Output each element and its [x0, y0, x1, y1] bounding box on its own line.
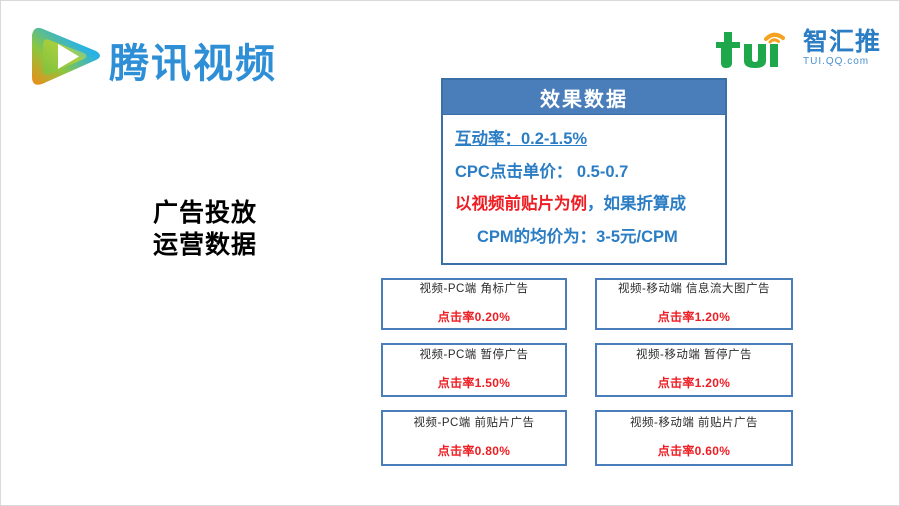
page-title: 腾讯视频 [109, 31, 277, 89]
effect-line-interaction-rate: 互动率：0.2-1.5% [455, 127, 715, 153]
effect-line-cpc-price: CPC点击单价： 0.5-0.7 [455, 160, 715, 186]
metric-value: 点击率1.20% [658, 374, 730, 391]
effect-line-cpm-price: CPM的均价为：3-5元/CPM [455, 225, 715, 251]
section-heading: 广告投放 运营数据 [153, 197, 257, 261]
metric-value: 点击率1.50% [438, 374, 510, 391]
tencent-video-play-icon [27, 21, 103, 91]
metric-box-pc-corner-ad[interactable]: 视频-PC端 角标广告 点击率0.20% [381, 278, 567, 330]
metric-label: 视频-PC端 前贴片广告 [414, 417, 535, 431]
metric-value: 点击率0.20% [438, 308, 510, 325]
metric-label: 视频-PC端 暂停广告 [420, 349, 529, 363]
tui-url: TUI.QQ.com [803, 56, 869, 67]
effect-data-panel-body: 互动率：0.2-1.5% CPC点击单价： 0.5-0.7 以视频前贴片为例，如… [443, 115, 725, 256]
metric-value: 点击率1.20% [658, 308, 730, 325]
metric-label: 视频-移动端 暂停广告 [636, 349, 752, 363]
section-heading-line1: 广告投放 [153, 197, 257, 229]
effect-line-1-text: 互动率：0.2-1.5% [455, 130, 587, 148]
metric-box-mobile-pause-ad[interactable]: 视频-移动端 暂停广告 点击率1.20% [595, 343, 793, 397]
effect-data-panel: 效果数据 互动率：0.2-1.5% CPC点击单价： 0.5-0.7 以视频前贴… [441, 78, 727, 265]
section-heading-line2: 运营数据 [153, 229, 257, 261]
metric-label: 视频-移动端 前贴片广告 [630, 417, 758, 431]
metric-label: 视频-PC端 角标广告 [420, 283, 529, 297]
metric-value: 点击率0.80% [438, 442, 510, 459]
effect-line-example: 以视频前贴片为例，如果折算成 [455, 192, 715, 218]
metric-box-pc-pause-ad[interactable]: 视频-PC端 暂停广告 点击率1.50% [381, 343, 567, 397]
effect-line-3-blue: ，如果折算成 [587, 195, 686, 213]
tui-name-cn: 智汇推 [803, 29, 881, 55]
effect-line-3-red: 以视频前贴片为例 [455, 195, 587, 213]
metric-box-pc-preroll-ad[interactable]: 视频-PC端 前贴片广告 点击率0.80% [381, 410, 567, 466]
tui-wifi-icon [710, 30, 796, 68]
slide-canvas: 腾讯视频 智汇推 TUI.QQ.com 广告投放 运营数据 [0, 0, 900, 506]
metric-value: 点击率0.60% [658, 442, 730, 459]
metric-label: 视频-移动端 信息流大图广告 [618, 283, 770, 297]
metric-box-mobile-feed-bigimage-ad[interactable]: 视频-移动端 信息流大图广告 点击率1.20% [595, 278, 793, 330]
metric-box-mobile-preroll-ad[interactable]: 视频-移动端 前贴片广告 点击率0.60% [595, 410, 793, 466]
effect-data-panel-header: 效果数据 [443, 80, 725, 115]
tui-partner-logo: 智汇推 TUI.QQ.com [710, 29, 881, 68]
